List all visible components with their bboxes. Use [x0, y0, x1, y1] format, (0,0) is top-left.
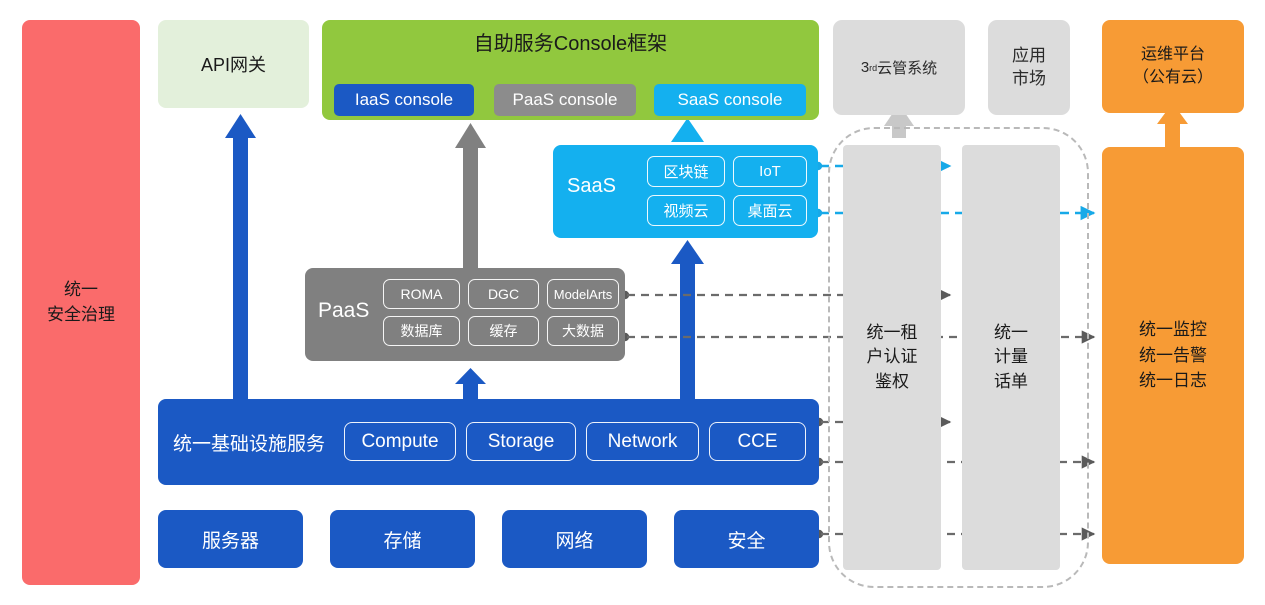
hardware-box-server[interactable]: 服务器	[158, 510, 303, 568]
third-party-prefix: 3	[861, 59, 869, 76]
hardware-box-storage[interactable]: 存储	[330, 510, 475, 568]
saas-chip-desktop-cloud[interactable]: 桌面云	[733, 195, 807, 226]
third-party-suffix: 云管系统	[877, 57, 937, 78]
paas-chip-dgc[interactable]: DGC	[468, 279, 539, 309]
paas-chip-roma[interactable]: ROMA	[383, 279, 460, 309]
app-market-label: 应用 市场	[1012, 45, 1046, 91]
saas-chip-blockchain[interactable]: 区块链	[647, 156, 725, 187]
saas-chip-video-cloud[interactable]: 视频云	[647, 195, 725, 226]
third-party-superscript: rd	[869, 63, 877, 73]
paas-chip-modelarts[interactable]: ModelArts	[547, 279, 619, 309]
paas-chip-database[interactable]: 数据库	[383, 316, 460, 346]
ops-platform-capabilities-box[interactable]: 统一监控 统一告警 统一日志	[1102, 147, 1244, 564]
unified-infrastructure-box[interactable]: 统一基础设施服务 Compute Storage Network CCE	[158, 399, 819, 485]
console-button-iaas[interactable]: IaaS console	[334, 84, 474, 116]
ops-platform-public-cloud-box[interactable]: 运维平台 （公有云）	[1102, 20, 1244, 113]
iaas-chip-network[interactable]: Network	[586, 422, 699, 461]
paas-layer-box[interactable]: PaaS ROMA DGC ModelArts 数据库 缓存 大数据	[305, 268, 625, 361]
architecture-diagram: 统一租 户认证 鉴权 统一 计量 话单 统一 安全治理 API网关 自助服务Co…	[0, 0, 1265, 605]
unified-infrastructure-label: 统一基础设施服务	[173, 429, 325, 456]
console-button-saas[interactable]: SaaS console	[654, 84, 806, 116]
console-framework-box[interactable]: 自助服务Console框架 IaaS console PaaS console …	[322, 20, 819, 120]
security-governance-pillar[interactable]: 统一 安全治理	[22, 20, 140, 585]
ops-platform-top-label: 运维平台 （公有云）	[1133, 44, 1213, 89]
console-button-paas[interactable]: PaaS console	[494, 84, 636, 116]
shared-column-label: 统一租 户认证 鉴权	[867, 321, 918, 395]
saas-layer-label: SaaS	[567, 175, 616, 198]
hardware-box-network[interactable]: 网络	[502, 510, 647, 568]
paas-chip-bigdata[interactable]: 大数据	[547, 316, 619, 346]
iaas-chip-storage[interactable]: Storage	[466, 422, 576, 461]
app-market-box[interactable]: 应用 市场	[988, 20, 1070, 115]
arrow-iaas-to-api-gateway	[225, 114, 256, 399]
shared-column-metering-billing[interactable]: 统一 计量 话单	[962, 145, 1060, 570]
api-gateway-box[interactable]: API网关	[158, 20, 309, 108]
shared-column-tenant-auth[interactable]: 统一租 户认证 鉴权	[843, 145, 941, 570]
arrow-iaas-to-paas	[455, 368, 486, 399]
arrow-iaas-to-saas	[671, 240, 704, 399]
paas-layer-label: PaaS	[318, 299, 369, 323]
api-gateway-label: API网关	[201, 51, 266, 77]
paas-chip-cache[interactable]: 缓存	[468, 316, 539, 346]
arrow-paas-to-console	[455, 123, 486, 268]
arrow-saas-to-console	[671, 118, 704, 142]
console-framework-title: 自助服务Console框架	[322, 27, 819, 56]
security-governance-label: 统一 安全治理	[47, 278, 115, 327]
saas-layer-box[interactable]: SaaS 区块链 IoT 视频云 桌面云	[553, 145, 818, 238]
ops-platform-body-label: 统一监控 统一告警 统一日志	[1139, 317, 1207, 394]
shared-column-label: 统一 计量 话单	[994, 321, 1028, 395]
saas-chip-iot[interactable]: IoT	[733, 156, 807, 187]
hardware-box-security[interactable]: 安全	[674, 510, 819, 568]
iaas-chip-compute[interactable]: Compute	[344, 422, 456, 461]
third-party-cloud-mgmt-box[interactable]: 3rd云管系统	[833, 20, 965, 115]
iaas-chip-cce[interactable]: CCE	[709, 422, 806, 461]
